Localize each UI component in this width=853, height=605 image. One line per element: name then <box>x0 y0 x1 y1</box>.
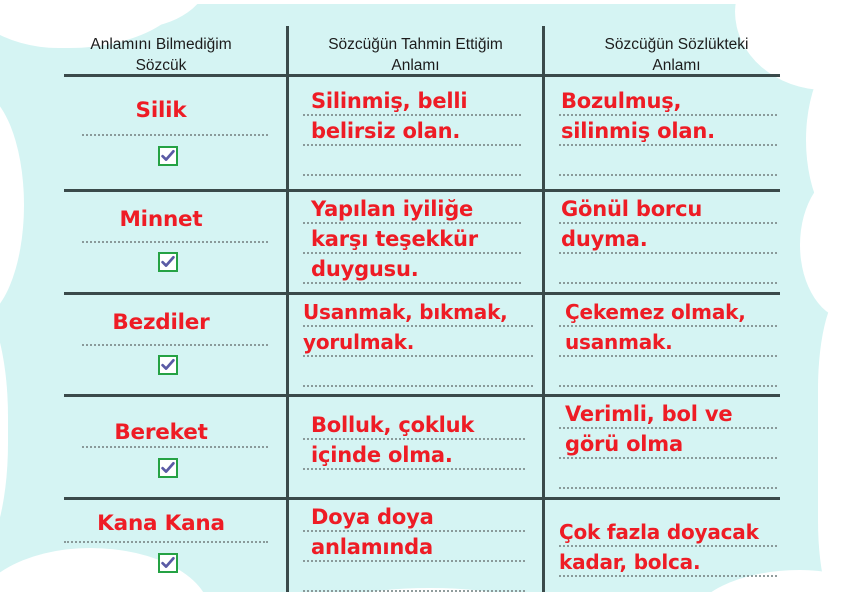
guess-text: Bolluk, çokluk içinde olma. <box>311 410 474 470</box>
table-cell-dictionary: Bozulmuş, silinmiş olan. <box>545 74 808 189</box>
column-header-dictionary-line1: Sözcüğün Sözlükteki <box>545 34 808 55</box>
writing-guide-line <box>82 134 268 136</box>
paper-edge-decoration <box>818 290 853 605</box>
paper-edge-decoration <box>806 40 853 240</box>
column-header-guess-line2: Anlamı <box>289 55 542 76</box>
check-icon <box>160 357 176 373</box>
writing-guide-line <box>303 590 525 592</box>
guess-text: Silinmiş, belli belirsiz olan. <box>311 86 467 146</box>
table-cell-dictionary: Çok fazla doyacak kadar, bolca. <box>545 497 808 592</box>
dictionary-text: Çok fazla doyacak kadar, bolca. <box>559 517 759 577</box>
dictionary-text: Gönül borcu duyma. <box>561 194 702 254</box>
paper-edge-decoration <box>0 0 853 4</box>
guess-text: Yapılan iyiliğe karşı teşekkür duygusu. <box>311 194 478 284</box>
column-header-guess-line1: Sözcüğün Tahmin Ettiğim <box>289 34 542 55</box>
word-checkbox[interactable] <box>158 553 178 573</box>
table-row: Silik <box>36 74 286 189</box>
writing-guide-line <box>303 174 521 176</box>
word-checkbox[interactable] <box>158 252 178 272</box>
table-cell-guess: Silinmiş, belli belirsiz olan. <box>289 74 542 189</box>
writing-guide-line <box>82 241 268 243</box>
vocab-word: Bereket <box>36 418 286 448</box>
check-icon <box>160 254 176 270</box>
word-checkbox[interactable] <box>158 146 178 166</box>
column-header-word: Anlamını Bilmediğim Sözcük <box>36 34 286 76</box>
paper-edge-decoration <box>0 90 24 320</box>
word-checkbox[interactable] <box>158 458 178 478</box>
table-cell-dictionary: Verimli, bol ve görü olma <box>545 394 808 497</box>
table-row: Bezdiler <box>36 292 286 394</box>
vocab-word: Silik <box>36 96 286 126</box>
guess-text: Doya doya anlamında <box>311 502 434 562</box>
table-cell-guess: Doya doya anlamında <box>289 497 542 592</box>
table-cell-guess: Yapılan iyiliğe karşı teşekkür duygusu. <box>289 189 542 292</box>
writing-guide-line <box>559 282 777 284</box>
writing-guide-line <box>82 344 268 346</box>
word-checkbox[interactable] <box>158 355 178 375</box>
table-cell-dictionary: Gönül borcu duyma. <box>545 189 808 292</box>
paper-edge-decoration <box>0 592 853 605</box>
column-header-word-line2: Sözcük <box>36 55 286 76</box>
column-header-dictionary-line2: Anlamı <box>545 55 808 76</box>
table-cell-dictionary: Çekemez olmak, usanmak. <box>545 292 808 394</box>
vocabulary-table: Anlamını Bilmediğim Sözcük Sözcüğün Tahm… <box>36 16 808 592</box>
vocab-word: Minnet <box>36 205 286 235</box>
vocab-word: Kana Kana <box>36 509 286 539</box>
table-cell-guess: Bolluk, çokluk içinde olma. <box>289 394 542 497</box>
column-header-dictionary: Sözcüğün Sözlükteki Anlamı <box>545 34 808 76</box>
worksheet-page: Anlamını Bilmediğim Sözcük Sözcüğün Tahm… <box>0 0 853 605</box>
dictionary-text: Bozulmuş, silinmiş olan. <box>561 86 715 146</box>
dictionary-text: Çekemez olmak, usanmak. <box>565 297 746 357</box>
column-header-word-line1: Anlamını Bilmediğim <box>36 34 286 55</box>
writing-guide-line <box>303 385 533 387</box>
paper-edge-decoration <box>0 300 8 560</box>
writing-guide-line <box>64 541 268 543</box>
dictionary-text: Verimli, bol ve görü olma <box>565 399 732 459</box>
check-icon <box>160 555 176 571</box>
table-row: Minnet <box>36 189 286 292</box>
table-cell-guess: Usanmak, bıkmak, yorulmak. <box>289 292 542 394</box>
table-row: Kana Kana <box>36 497 286 592</box>
vocab-word: Bezdiler <box>36 308 286 338</box>
column-header-guess: Sözcüğün Tahmin Ettiğim Anlamı <box>289 34 542 76</box>
check-icon <box>160 460 176 476</box>
table-row: Bereket <box>36 394 286 497</box>
writing-guide-line <box>559 487 777 489</box>
writing-guide-line <box>559 174 777 176</box>
guess-text: Usanmak, bıkmak, yorulmak. <box>303 297 508 357</box>
check-icon <box>160 148 176 164</box>
writing-guide-line <box>559 385 777 387</box>
